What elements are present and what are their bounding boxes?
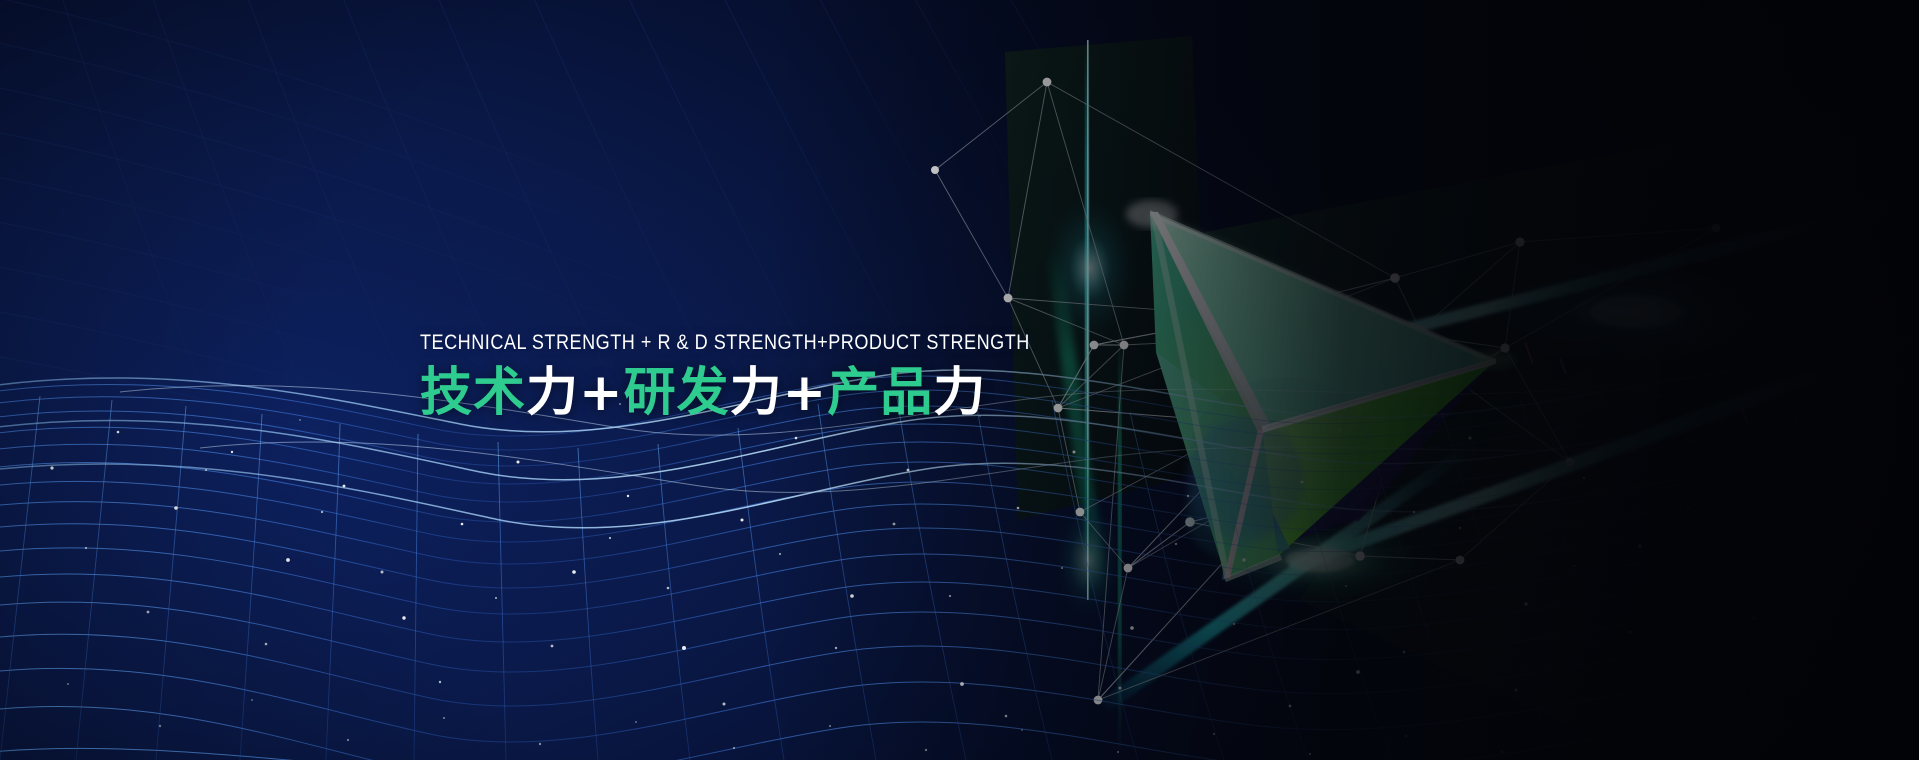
title-segment-2: + [579,363,624,423]
hero-banner: TECHNICAL STRENGTH + R & D STRENGTH+PROD… [0,0,1919,760]
title-segment-1: 力 [526,363,579,423]
title-segment-5: + [783,363,828,423]
title-segment-6: 产品 [827,363,933,423]
title-segment-0: 技术 [420,363,526,423]
title-segment-3: 研发 [624,363,730,423]
title-chinese: 技术力+研发力+产品力 [420,362,1060,424]
headline-text-block: TECHNICAL STRENGTH + R & D STRENGTH+PROD… [420,330,1060,424]
title-segment-7: 力 [933,363,986,423]
subtitle-english: TECHNICAL STRENGTH + R & D STRENGTH+PROD… [420,330,970,356]
title-segment-4: 力 [730,363,783,423]
